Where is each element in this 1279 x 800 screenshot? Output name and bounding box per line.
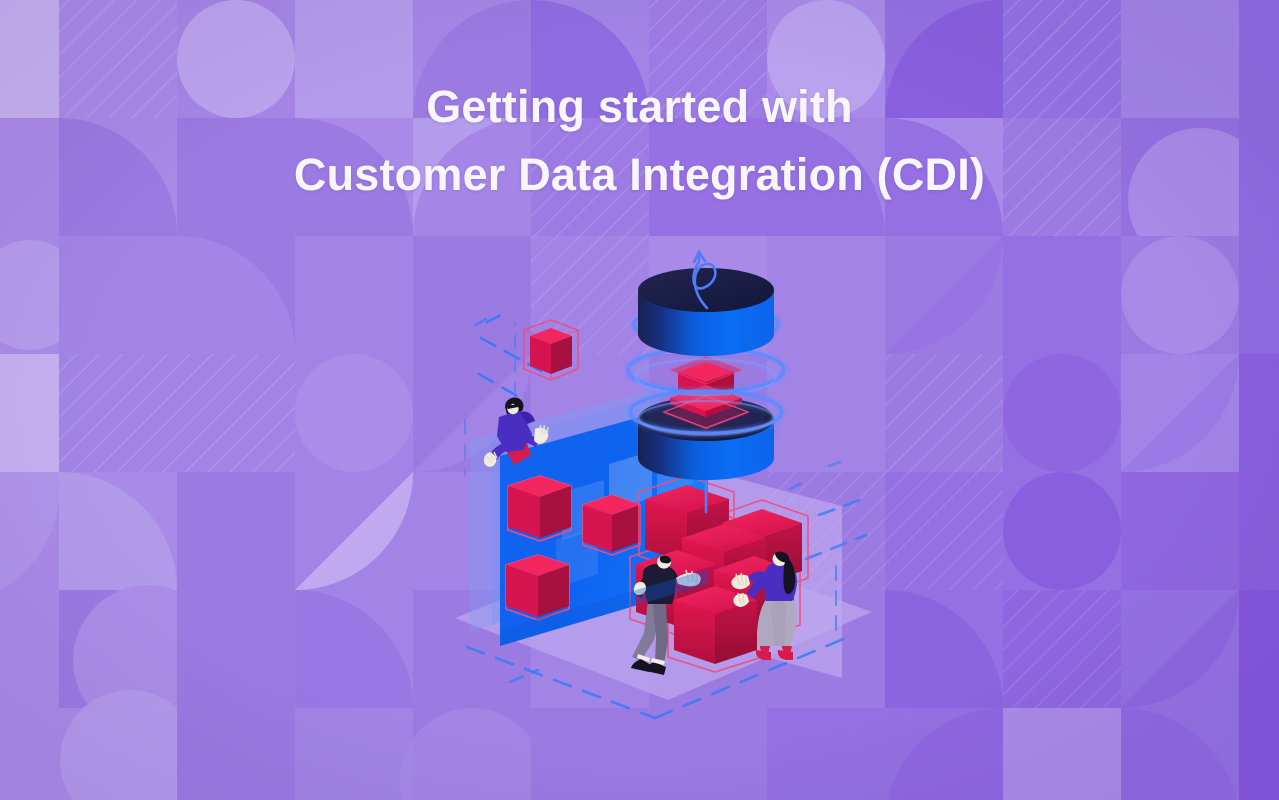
isometric-data-integration-illustration — [0, 0, 1279, 800]
floating-wireframe-cube — [524, 320, 578, 380]
upper-database-cylinder — [638, 268, 774, 356]
hero-banner: Getting started with Customer Data Integ… — [0, 0, 1279, 800]
